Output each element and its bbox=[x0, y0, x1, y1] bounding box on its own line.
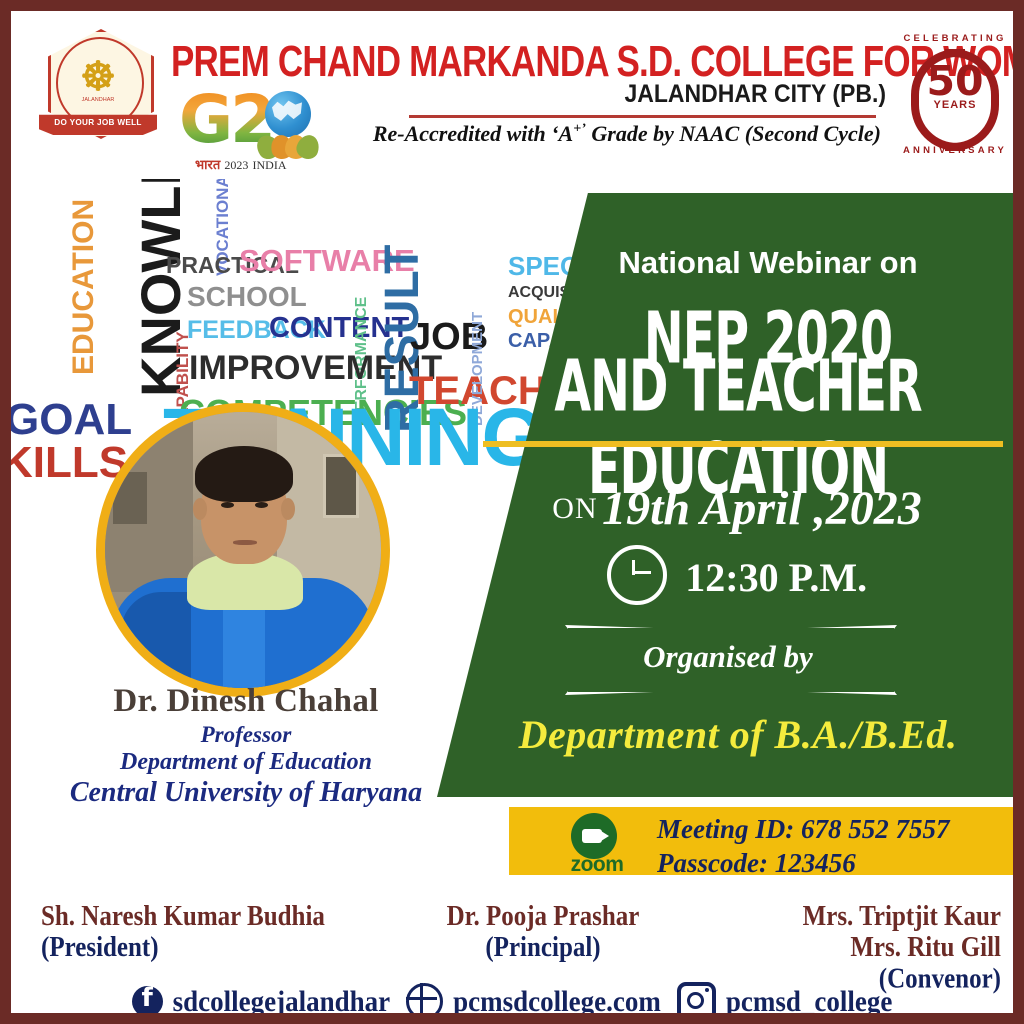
anniversary-top-text: CELEBRATING bbox=[895, 33, 1015, 44]
g20-caption: भारत 2023 INDIA bbox=[195, 155, 287, 173]
organised-by-label: Organised by bbox=[565, 633, 891, 681]
g20-caption-hi: भारत bbox=[195, 158, 220, 173]
g20-caption-year: 2023 bbox=[224, 158, 248, 172]
poster-header: ☸ JALANDHAR DO YOUR JOB WELL PREM CHAND … bbox=[11, 11, 1013, 176]
event-date: 19th April ,2023 bbox=[602, 482, 922, 535]
zoom-meeting-bar: zoom Meeting ID: 678 552 7557 Passcode: … bbox=[509, 807, 1013, 875]
facebook-icon[interactable] bbox=[132, 986, 163, 1017]
crest-city-label: JALANDHAR bbox=[69, 97, 127, 103]
anniversary-bottom-text: ANNIVERSARY bbox=[895, 145, 1015, 156]
naac-suffix: Grade by NAAC (Second Cycle) bbox=[586, 121, 881, 146]
event-time: 12:30 P.M. bbox=[685, 555, 867, 600]
anniversary-number: 50 bbox=[895, 61, 1015, 102]
zoom-meeting-id: Meeting ID: 678 552 7557 bbox=[657, 815, 1007, 843]
credit-role: (Principal) bbox=[409, 932, 677, 963]
webinar-label: National Webinar on bbox=[533, 245, 1003, 281]
social-website[interactable]: pcmsdcollege.com bbox=[406, 983, 661, 1020]
zoom-logo-icon: zoom bbox=[551, 813, 643, 871]
anniversary-years: YEARS bbox=[895, 99, 1015, 111]
word-cloud-term: EDUCATION bbox=[69, 199, 99, 375]
title-divider bbox=[483, 441, 1003, 447]
credit-name: Mrs. Triptjit Kaur bbox=[711, 901, 1001, 932]
g20-lotus-icon bbox=[257, 125, 319, 159]
event-date-row: ON 19th April ,2023 bbox=[467, 481, 1007, 536]
organising-department: Department of B.A./B.Ed. bbox=[465, 711, 1011, 758]
speaker-university: Central University of Haryana bbox=[11, 777, 481, 809]
g20-logo-icon: G2 भारत 2023 INDIA bbox=[179, 89, 339, 175]
speaker-role: Professor bbox=[11, 722, 481, 748]
college-crest-icon: ☸ JALANDHAR DO YOUR JOB WELL bbox=[39, 25, 157, 143]
instagram-handle[interactable]: pcmsd_college bbox=[726, 984, 892, 1018]
anniversary-seal-icon: CELEBRATING 50 YEARS ANNIVERSARY bbox=[895, 25, 1015, 165]
speaker-details: Dr. Dinesh Chahal Professor Department o… bbox=[11, 683, 481, 809]
globe-icon[interactable] bbox=[406, 983, 443, 1020]
zoom-credentials: Meeting ID: 678 552 7557 Passcode: 12345… bbox=[657, 815, 1007, 877]
zoom-passcode: Passcode: 123456 bbox=[657, 849, 1007, 877]
credit-principal: Dr. Pooja Prashar (Principal) bbox=[409, 901, 677, 963]
zoom-wordmark: zoom bbox=[559, 853, 635, 877]
facebook-handle[interactable]: sdcollegejalandhar bbox=[173, 984, 391, 1018]
speaker-name: Dr. Dinesh Chahal bbox=[11, 683, 481, 720]
on-label: ON bbox=[552, 492, 597, 525]
credit-president: Sh. Naresh Kumar Budhia (President) bbox=[41, 901, 325, 963]
speaker-department: Department of Education bbox=[11, 749, 481, 776]
webinar-poster: ☸ JALANDHAR DO YOUR JOB WELL PREM CHAND … bbox=[0, 0, 1024, 1024]
header-divider bbox=[409, 115, 876, 118]
social-facebook[interactable]: sdcollegejalandhar bbox=[132, 986, 391, 1017]
credit-name: Sh. Naresh Kumar Budhia bbox=[41, 901, 325, 932]
event-time-row: 12:30 P.M. bbox=[467, 545, 1007, 605]
credit-name-secondary: Mrs. Ritu Gill bbox=[711, 932, 1001, 963]
credits-row: Sh. Naresh Kumar Budhia (President) Dr. … bbox=[11, 901, 1013, 973]
speaker-portrait bbox=[96, 403, 390, 697]
credit-name: Dr. Pooja Prashar bbox=[409, 901, 677, 932]
naac-prefix: Re-Accredited with ‘A bbox=[373, 121, 573, 146]
social-instagram[interactable]: pcmsd_college bbox=[677, 982, 892, 1021]
word-cloud-term: SCHOOL bbox=[187, 283, 307, 311]
g20-caption-country: INDIA bbox=[253, 158, 287, 172]
clock-icon bbox=[607, 545, 667, 605]
naac-superscript: +’ bbox=[573, 122, 586, 137]
naac-accreditation: Re-Accredited with ‘A+’ Grade by NAAC (S… bbox=[341, 121, 881, 147]
social-links-row: sdcollegejalandhar pcmsdcollege.com pcms… bbox=[11, 979, 1013, 1023]
credit-role: (President) bbox=[41, 932, 325, 963]
website-url[interactable]: pcmsdcollege.com bbox=[453, 984, 661, 1018]
instagram-icon[interactable] bbox=[677, 982, 716, 1021]
event-panel: National Webinar on NEP 2020 AND TEACHER… bbox=[437, 193, 1013, 797]
